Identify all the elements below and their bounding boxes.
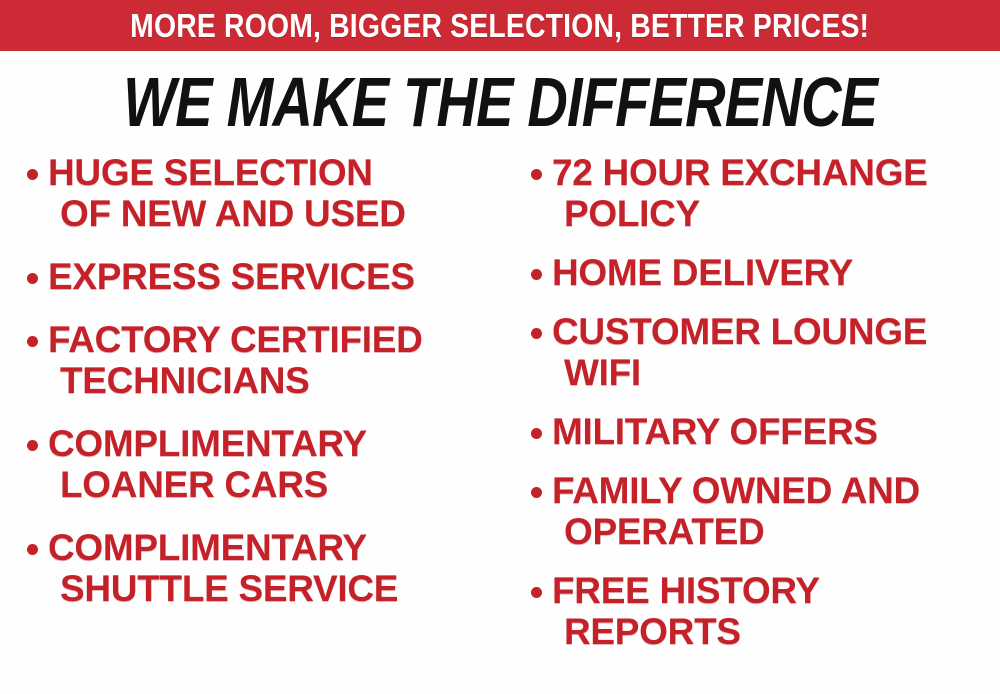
bullet-dot-icon [531, 169, 542, 180]
bullet-dot-icon [531, 587, 542, 598]
feature-bullet-item: COMPLIMENTARYSHUTTLE SERVICE [14, 527, 494, 609]
feature-bullet-line1: CUSTOMER LOUNGE [552, 311, 927, 352]
headline-text: WE MAKE THE DIFFERENCE [123, 66, 877, 138]
feature-bullet-line2: REPORTS [552, 611, 996, 652]
feature-bullet-line1: COMPLIMENTARY [48, 423, 367, 464]
feature-bullet-item: MILITARY OFFERS [518, 411, 996, 452]
feature-bullet-item: FAMILY OWNED ANDOPERATED [518, 470, 996, 552]
feature-bullet-line1: FACTORY CERTIFIED [48, 319, 423, 360]
feature-bullet-line2: OPERATED [552, 511, 996, 552]
bullet-dot-icon [27, 544, 38, 555]
feature-bullet-item: FREE HISTORYREPORTS [518, 570, 996, 652]
feature-bullet-item: EXPRESS SERVICES [14, 256, 494, 297]
feature-bullet-line1: EXPRESS SERVICES [48, 256, 415, 297]
feature-bullet-line2: TECHNICIANS [48, 360, 494, 401]
feature-bullet-line1: MILITARY OFFERS [552, 411, 878, 452]
feature-bullet-line2: WIFI [552, 352, 996, 393]
feature-bullet-line2: OF NEW AND USED [48, 193, 494, 234]
feature-bullet-item: HUGE SELECTIONOF NEW AND USED [14, 152, 494, 234]
feature-bullet-item: CUSTOMER LOUNGEWIFI [518, 311, 996, 393]
feature-bullet-item: COMPLIMENTARYLOANER CARS [14, 423, 494, 505]
feature-bullet-line1: FREE HISTORY [552, 570, 820, 611]
bullet-dot-icon [27, 440, 38, 451]
bullet-dot-icon [531, 487, 542, 498]
feature-bullet-line2: POLICY [552, 193, 996, 234]
headline: WE MAKE THE DIFFERENCE [0, 66, 1000, 138]
feature-bullet-line1: HOME DELIVERY [552, 252, 853, 293]
bullet-dot-icon [531, 269, 542, 280]
top-promo-strip: MORE ROOM, BIGGER SELECTION, BETTER PRIC… [0, 0, 1000, 51]
bullet-dot-icon [531, 428, 542, 439]
feature-bullet-line1: COMPLIMENTARY [48, 527, 367, 568]
feature-column-right: 72 HOUR EXCHANGEPOLICYHOME DELIVERYCUSTO… [518, 152, 996, 652]
bullet-dot-icon [27, 273, 38, 284]
feature-columns: HUGE SELECTIONOF NEW AND USEDEXPRESS SER… [0, 152, 1000, 694]
feature-bullet-line1: HUGE SELECTION [48, 152, 373, 193]
feature-column-left: HUGE SELECTIONOF NEW AND USEDEXPRESS SER… [14, 152, 494, 609]
feature-bullet-item: 72 HOUR EXCHANGEPOLICY [518, 152, 996, 234]
feature-bullet-line1: FAMILY OWNED AND [552, 470, 920, 511]
top-promo-strip-text: MORE ROOM, BIGGER SELECTION, BETTER PRIC… [130, 9, 869, 42]
promo-banner: MORE ROOM, BIGGER SELECTION, BETTER PRIC… [0, 0, 1000, 694]
feature-bullet-item: HOME DELIVERY [518, 252, 996, 293]
feature-bullet-item: FACTORY CERTIFIEDTECHNICIANS [14, 319, 494, 401]
feature-bullet-line1: 72 HOUR EXCHANGE [552, 152, 928, 193]
bullet-dot-icon [531, 328, 542, 339]
bullet-dot-icon [27, 336, 38, 347]
bullet-dot-icon [27, 169, 38, 180]
feature-bullet-line2: LOANER CARS [48, 464, 494, 505]
feature-bullet-line2: SHUTTLE SERVICE [48, 568, 494, 609]
